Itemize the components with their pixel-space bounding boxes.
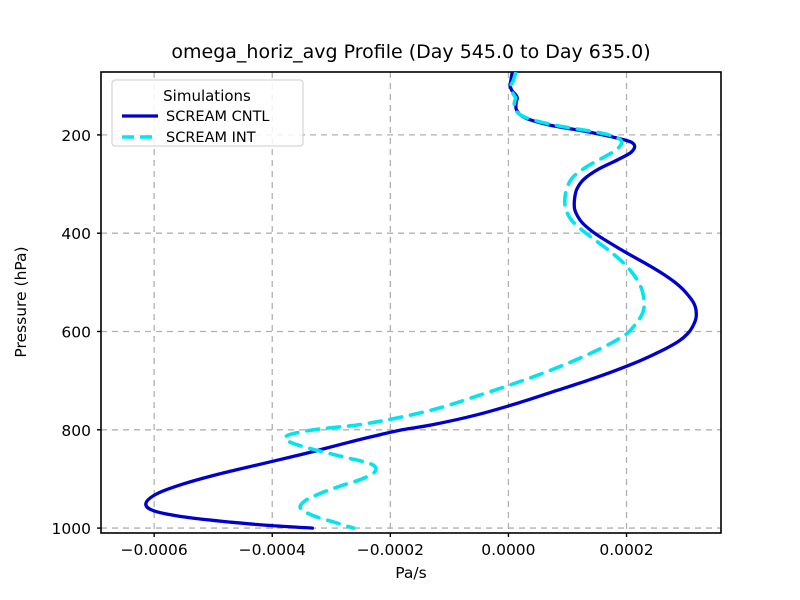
x-tick-label: 0.0000 — [481, 541, 535, 559]
x-tick-label: −0.0002 — [357, 541, 424, 559]
page-title: omega_horiz_avg Profile (Day 545.0 to Da… — [171, 41, 650, 63]
legend-label-1[interactable]: SCREAM INT — [166, 130, 256, 146]
y-tick-label: 200 — [61, 127, 91, 145]
y-tick-label: 800 — [61, 422, 91, 440]
chart-figure: omega_horiz_avg Profile (Day 545.0 to Da… — [0, 0, 800, 600]
x-tick-label: −0.0004 — [239, 541, 306, 559]
omega-profile-chart: omega_horiz_avg Profile (Day 545.0 to Da… — [0, 0, 800, 600]
x-tick-label: −0.0006 — [121, 541, 188, 559]
x-axis-label: Pa/s — [395, 564, 426, 582]
legend[interactable]: Simulations SCREAM CNTLSCREAM INT — [112, 80, 303, 146]
y-tick-label: 1000 — [52, 520, 91, 538]
legend-label-0[interactable]: SCREAM CNTL — [166, 109, 270, 125]
y-axis-label: Pressure (hPa) — [12, 246, 30, 357]
legend-title: Simulations — [163, 87, 251, 105]
y-tick-label: 400 — [61, 225, 91, 243]
x-tick-label: 0.0002 — [599, 541, 653, 559]
y-tick-label: 600 — [61, 323, 91, 341]
